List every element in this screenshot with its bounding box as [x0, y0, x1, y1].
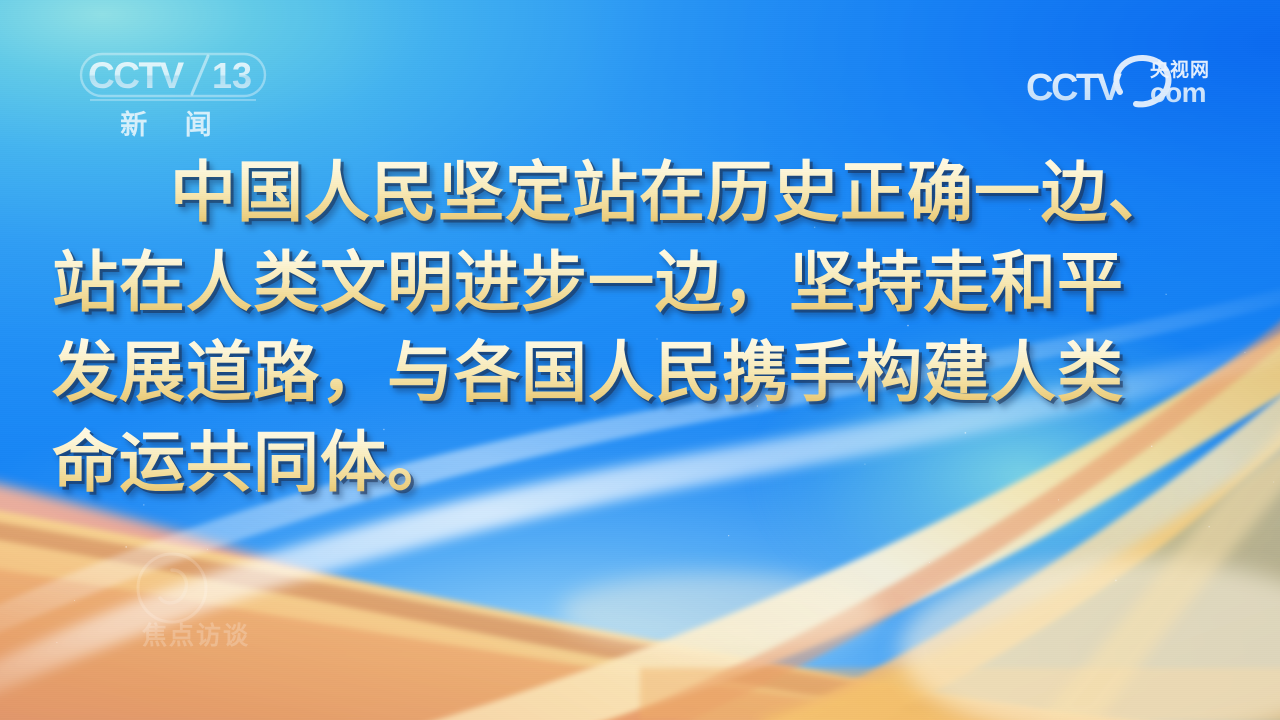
program-watermark-name: 焦点访谈	[142, 621, 250, 650]
headline-block: 中国人民坚定站在历史正确一边、 站在人类文明进步一边，坚持走和平 发展道路，与各…	[0, 148, 1280, 508]
program-watermark: 焦点访谈	[96, 548, 296, 660]
cctv-com-domain: com	[1150, 77, 1206, 108]
headline-line-1: 中国人民坚定站在历史正确一边、	[52, 148, 1228, 238]
cctv13-wordmark: CCTV	[88, 55, 185, 96]
headline-line-3: 发展道路，与各国人民携手构建人类	[52, 328, 1228, 418]
cctv13-channel-number: 13	[212, 55, 252, 96]
broadcast-frame: CCTV 13 新 闻 CCTV 央视网	[0, 0, 1280, 720]
cctv13-channel-name: 新 闻	[120, 109, 225, 141]
cctv-com-wordmark: CCTV	[1026, 67, 1123, 109]
cctv-com-watermark: CCTV 央视网 com	[1024, 50, 1222, 112]
headline-line-2: 站在人类文明进步一边，坚持走和平	[52, 238, 1228, 328]
program-emblem-circle	[138, 554, 206, 622]
cctv13-channel-logo: CCTV 13 新 闻	[78, 50, 268, 142]
headline-line-4: 命运共同体。	[52, 418, 1228, 508]
